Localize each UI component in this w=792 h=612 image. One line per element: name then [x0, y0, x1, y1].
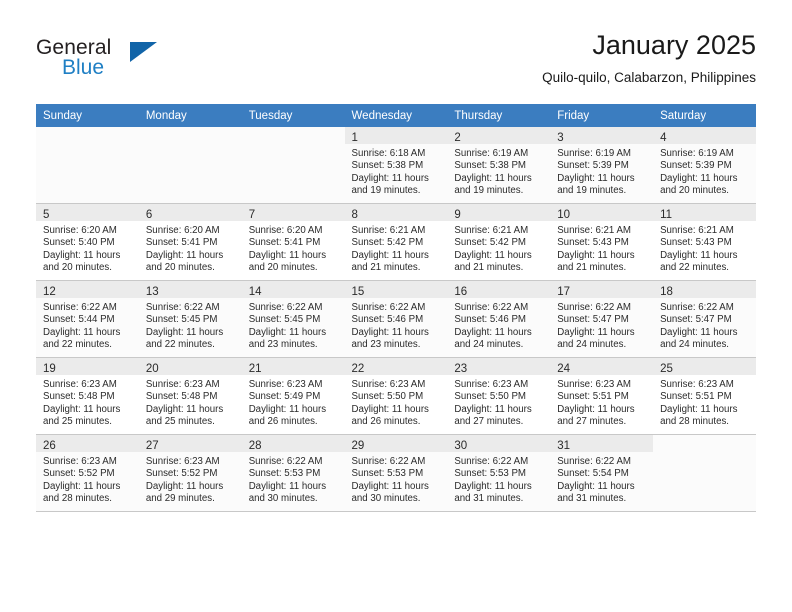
day-number-bar — [242, 127, 345, 144]
day-number-bar: 6 — [139, 204, 242, 221]
day-cell-inner: 4Sunrise: 6:19 AMSunset: 5:39 PMDaylight… — [653, 127, 756, 203]
day-detail-lines: Sunrise: 6:22 AMSunset: 5:47 PMDaylight:… — [550, 298, 653, 352]
day-detail-lines: Sunrise: 6:21 AMSunset: 5:43 PMDaylight:… — [550, 221, 653, 275]
logo-triangle-icon — [130, 42, 157, 62]
day-number: 6 — [146, 209, 152, 221]
calendar-header-row: Sunday Monday Tuesday Wednesday Thursday… — [36, 104, 756, 127]
day-number: 4 — [660, 132, 666, 144]
daylight-text: Daylight: 11 hours — [660, 250, 750, 262]
day-number-bar: 2 — [447, 127, 550, 144]
calendar-day-cell[interactable]: 23Sunrise: 6:23 AMSunset: 5:50 PMDayligh… — [447, 358, 550, 435]
calendar-day-cell[interactable]: 16Sunrise: 6:22 AMSunset: 5:46 PMDayligh… — [447, 281, 550, 358]
day-number: 19 — [43, 363, 56, 375]
calendar-empty-cell — [242, 127, 345, 204]
day-number-bar: 27 — [139, 435, 242, 452]
day-cell-inner: 2Sunrise: 6:19 AMSunset: 5:38 PMDaylight… — [447, 127, 550, 203]
calendar-week-row: 26Sunrise: 6:23 AMSunset: 5:52 PMDayligh… — [36, 435, 756, 512]
calendar-day-cell[interactable]: 7Sunrise: 6:20 AMSunset: 5:41 PMDaylight… — [242, 204, 345, 281]
calendar-day-cell[interactable]: 12Sunrise: 6:22 AMSunset: 5:44 PMDayligh… — [36, 281, 139, 358]
day-detail-lines: Sunrise: 6:22 AMSunset: 5:53 PMDaylight:… — [345, 452, 448, 506]
day-number: 10 — [557, 209, 570, 221]
day-cell-inner: 14Sunrise: 6:22 AMSunset: 5:45 PMDayligh… — [242, 281, 345, 357]
day-number: 20 — [146, 363, 159, 375]
calendar-body: 1Sunrise: 6:18 AMSunset: 5:38 PMDaylight… — [36, 127, 756, 512]
daylight-text: and 20 minutes. — [660, 185, 750, 197]
daylight-text: Daylight: 11 hours — [146, 250, 236, 262]
general-blue-logo: General Blue — [36, 36, 166, 86]
day-number: 21 — [249, 363, 262, 375]
day-cell-inner: 13Sunrise: 6:22 AMSunset: 5:45 PMDayligh… — [139, 281, 242, 357]
day-number-bar: 24 — [550, 358, 653, 375]
day-cell-inner: 8Sunrise: 6:21 AMSunset: 5:42 PMDaylight… — [345, 204, 448, 280]
day-detail-lines: Sunrise: 6:19 AMSunset: 5:38 PMDaylight:… — [447, 144, 550, 198]
daylight-text: Daylight: 11 hours — [249, 327, 339, 339]
daylight-text: and 19 minutes. — [352, 185, 442, 197]
sunrise-text: Sunrise: 6:23 AM — [146, 379, 236, 391]
day-cell-inner: 1Sunrise: 6:18 AMSunset: 5:38 PMDaylight… — [345, 127, 448, 203]
sunset-text: Sunset: 5:49 PM — [249, 391, 339, 403]
sunset-text: Sunset: 5:41 PM — [249, 237, 339, 249]
daylight-text: Daylight: 11 hours — [660, 404, 750, 416]
calendar-day-cell[interactable]: 8Sunrise: 6:21 AMSunset: 5:42 PMDaylight… — [345, 204, 448, 281]
day-number: 18 — [660, 286, 673, 298]
daylight-text: Daylight: 11 hours — [249, 481, 339, 493]
sunrise-text: Sunrise: 6:23 AM — [146, 456, 236, 468]
day-cell-inner — [139, 127, 242, 203]
day-number-bar: 26 — [36, 435, 139, 452]
weekday-header-saturday: Saturday — [653, 104, 756, 127]
day-detail-lines: Sunrise: 6:21 AMSunset: 5:43 PMDaylight:… — [653, 221, 756, 275]
daylight-text: Daylight: 11 hours — [352, 250, 442, 262]
sunrise-text: Sunrise: 6:22 AM — [454, 302, 544, 314]
daylight-text: and 25 minutes. — [43, 416, 133, 428]
sunset-text: Sunset: 5:50 PM — [454, 391, 544, 403]
day-detail-lines: Sunrise: 6:19 AMSunset: 5:39 PMDaylight:… — [653, 144, 756, 198]
daylight-text: Daylight: 11 hours — [146, 327, 236, 339]
daylight-text: and 27 minutes. — [454, 416, 544, 428]
day-cell-inner: 7Sunrise: 6:20 AMSunset: 5:41 PMDaylight… — [242, 204, 345, 280]
sunset-text: Sunset: 5:53 PM — [352, 468, 442, 480]
day-number-bar: 16 — [447, 281, 550, 298]
sunset-text: Sunset: 5:45 PM — [249, 314, 339, 326]
sunset-text: Sunset: 5:47 PM — [557, 314, 647, 326]
sunrise-text: Sunrise: 6:19 AM — [557, 148, 647, 160]
day-number-bar: 15 — [345, 281, 448, 298]
calendar-week-row: 1Sunrise: 6:18 AMSunset: 5:38 PMDaylight… — [36, 127, 756, 204]
day-number: 9 — [454, 209, 460, 221]
daylight-text: and 22 minutes. — [43, 339, 133, 351]
sunset-text: Sunset: 5:53 PM — [454, 468, 544, 480]
day-number-bar: 25 — [653, 358, 756, 375]
day-number: 22 — [352, 363, 365, 375]
day-cell-inner: 10Sunrise: 6:21 AMSunset: 5:43 PMDayligh… — [550, 204, 653, 280]
sunrise-text: Sunrise: 6:22 AM — [660, 302, 750, 314]
day-cell-inner: 5Sunrise: 6:20 AMSunset: 5:40 PMDaylight… — [36, 204, 139, 280]
day-detail-lines: Sunrise: 6:21 AMSunset: 5:42 PMDaylight:… — [447, 221, 550, 275]
sunrise-text: Sunrise: 6:19 AM — [454, 148, 544, 160]
day-cell-inner: 12Sunrise: 6:22 AMSunset: 5:44 PMDayligh… — [36, 281, 139, 357]
calendar-day-cell[interactable]: 10Sunrise: 6:21 AMSunset: 5:43 PMDayligh… — [550, 204, 653, 281]
day-detail-lines: Sunrise: 6:19 AMSunset: 5:39 PMDaylight:… — [550, 144, 653, 198]
sunset-text: Sunset: 5:38 PM — [454, 160, 544, 172]
daylight-text: and 26 minutes. — [352, 416, 442, 428]
day-detail-lines: Sunrise: 6:23 AMSunset: 5:50 PMDaylight:… — [447, 375, 550, 429]
sunrise-text: Sunrise: 6:22 AM — [557, 456, 647, 468]
day-number-bar: 8 — [345, 204, 448, 221]
calendar-day-cell[interactable]: 30Sunrise: 6:22 AMSunset: 5:53 PMDayligh… — [447, 435, 550, 512]
daylight-text: and 23 minutes. — [249, 339, 339, 351]
day-number: 3 — [557, 132, 563, 144]
daylight-text: Daylight: 11 hours — [249, 250, 339, 262]
daylight-text: and 22 minutes. — [660, 262, 750, 274]
calendar-day-cell[interactable]: 14Sunrise: 6:22 AMSunset: 5:45 PMDayligh… — [242, 281, 345, 358]
sunrise-text: Sunrise: 6:23 AM — [43, 456, 133, 468]
daylight-text: and 23 minutes. — [352, 339, 442, 351]
day-number-bar: 28 — [242, 435, 345, 452]
sunrise-text: Sunrise: 6:23 AM — [660, 379, 750, 391]
sunset-text: Sunset: 5:52 PM — [43, 468, 133, 480]
day-detail-lines: Sunrise: 6:20 AMSunset: 5:41 PMDaylight:… — [242, 221, 345, 275]
sunrise-text: Sunrise: 6:21 AM — [454, 225, 544, 237]
sunset-text: Sunset: 5:41 PM — [146, 237, 236, 249]
day-cell-inner: 23Sunrise: 6:23 AMSunset: 5:50 PMDayligh… — [447, 358, 550, 434]
day-cell-inner: 27Sunrise: 6:23 AMSunset: 5:52 PMDayligh… — [139, 435, 242, 511]
weekday-header-sunday: Sunday — [36, 104, 139, 127]
day-number-bar: 12 — [36, 281, 139, 298]
calendar-day-cell[interactable]: 26Sunrise: 6:23 AMSunset: 5:52 PMDayligh… — [36, 435, 139, 512]
weekday-header-tuesday: Tuesday — [242, 104, 345, 127]
day-number-bar: 4 — [653, 127, 756, 144]
day-cell-inner: 24Sunrise: 6:23 AMSunset: 5:51 PMDayligh… — [550, 358, 653, 434]
day-number: 7 — [249, 209, 255, 221]
sunrise-text: Sunrise: 6:18 AM — [352, 148, 442, 160]
sunset-text: Sunset: 5:42 PM — [352, 237, 442, 249]
day-number-bar: 19 — [36, 358, 139, 375]
day-cell-inner: 22Sunrise: 6:23 AMSunset: 5:50 PMDayligh… — [345, 358, 448, 434]
day-cell-inner: 29Sunrise: 6:22 AMSunset: 5:53 PMDayligh… — [345, 435, 448, 511]
calendar-day-cell[interactable]: 1Sunrise: 6:18 AMSunset: 5:38 PMDaylight… — [345, 127, 448, 204]
day-number: 27 — [146, 440, 159, 452]
sunset-text: Sunset: 5:53 PM — [249, 468, 339, 480]
sunset-text: Sunset: 5:46 PM — [454, 314, 544, 326]
sunrise-text: Sunrise: 6:23 AM — [352, 379, 442, 391]
daylight-text: and 28 minutes. — [660, 416, 750, 428]
daylight-text: Daylight: 11 hours — [43, 481, 133, 493]
sunrise-text: Sunrise: 6:22 AM — [43, 302, 133, 314]
day-detail-lines: Sunrise: 6:23 AMSunset: 5:49 PMDaylight:… — [242, 375, 345, 429]
day-number-bar: 9 — [447, 204, 550, 221]
sunrise-text: Sunrise: 6:20 AM — [146, 225, 236, 237]
daylight-text: and 30 minutes. — [352, 493, 442, 505]
daylight-text: and 25 minutes. — [146, 416, 236, 428]
day-detail-lines: Sunrise: 6:22 AMSunset: 5:45 PMDaylight:… — [242, 298, 345, 352]
day-number-bar: 11 — [653, 204, 756, 221]
sunrise-text: Sunrise: 6:22 AM — [352, 302, 442, 314]
day-detail-lines: Sunrise: 6:20 AMSunset: 5:41 PMDaylight:… — [139, 221, 242, 275]
sunrise-text: Sunrise: 6:23 AM — [249, 379, 339, 391]
calendar-day-cell[interactable]: 4Sunrise: 6:19 AMSunset: 5:39 PMDaylight… — [653, 127, 756, 204]
day-number-bar: 10 — [550, 204, 653, 221]
sunset-text: Sunset: 5:52 PM — [146, 468, 236, 480]
day-number-bar: 18 — [653, 281, 756, 298]
day-cell-inner: 3Sunrise: 6:19 AMSunset: 5:39 PMDaylight… — [550, 127, 653, 203]
calendar-day-cell[interactable]: 15Sunrise: 6:22 AMSunset: 5:46 PMDayligh… — [345, 281, 448, 358]
calendar-week-row: 19Sunrise: 6:23 AMSunset: 5:48 PMDayligh… — [36, 358, 756, 435]
day-detail-lines — [242, 144, 345, 148]
daylight-text: and 21 minutes. — [454, 262, 544, 274]
calendar-empty-cell — [36, 127, 139, 204]
day-number: 15 — [352, 286, 365, 298]
day-number-bar: 23 — [447, 358, 550, 375]
day-cell-inner — [242, 127, 345, 203]
day-number: 5 — [43, 209, 49, 221]
day-detail-lines: Sunrise: 6:18 AMSunset: 5:38 PMDaylight:… — [345, 144, 448, 198]
sunrise-text: Sunrise: 6:22 AM — [146, 302, 236, 314]
day-cell-inner: 19Sunrise: 6:23 AMSunset: 5:48 PMDayligh… — [36, 358, 139, 434]
daylight-text: and 20 minutes. — [249, 262, 339, 274]
calendar-day-cell[interactable]: 19Sunrise: 6:23 AMSunset: 5:48 PMDayligh… — [36, 358, 139, 435]
daylight-text: and 21 minutes. — [352, 262, 442, 274]
day-number-bar: 13 — [139, 281, 242, 298]
daylight-text: and 19 minutes. — [557, 185, 647, 197]
day-number: 23 — [454, 363, 467, 375]
day-cell-inner: 20Sunrise: 6:23 AMSunset: 5:48 PMDayligh… — [139, 358, 242, 434]
day-cell-inner: 25Sunrise: 6:23 AMSunset: 5:51 PMDayligh… — [653, 358, 756, 434]
daylight-text: Daylight: 11 hours — [249, 404, 339, 416]
day-number-bar: 31 — [550, 435, 653, 452]
daylight-text: and 24 minutes. — [454, 339, 544, 351]
daylight-text: Daylight: 11 hours — [352, 404, 442, 416]
page-title: January 2025 — [542, 28, 756, 62]
sunrise-text: Sunrise: 6:22 AM — [557, 302, 647, 314]
daylight-text: and 22 minutes. — [146, 339, 236, 351]
daylight-text: Daylight: 11 hours — [146, 481, 236, 493]
day-cell-inner: 16Sunrise: 6:22 AMSunset: 5:46 PMDayligh… — [447, 281, 550, 357]
daylight-text: Daylight: 11 hours — [352, 481, 442, 493]
page-header: General Blue January 2025 Quilo-quilo, C… — [0, 0, 792, 104]
sunrise-text: Sunrise: 6:22 AM — [454, 456, 544, 468]
daylight-text: Daylight: 11 hours — [557, 404, 647, 416]
daylight-text: Daylight: 11 hours — [557, 327, 647, 339]
day-cell-inner: 15Sunrise: 6:22 AMSunset: 5:46 PMDayligh… — [345, 281, 448, 357]
day-number: 25 — [660, 363, 673, 375]
day-detail-lines: Sunrise: 6:22 AMSunset: 5:46 PMDaylight:… — [447, 298, 550, 352]
sunrise-text: Sunrise: 6:21 AM — [352, 225, 442, 237]
day-number: 13 — [146, 286, 159, 298]
sunset-text: Sunset: 5:46 PM — [352, 314, 442, 326]
sunset-text: Sunset: 5:42 PM — [454, 237, 544, 249]
calendar-day-cell[interactable]: 25Sunrise: 6:23 AMSunset: 5:51 PMDayligh… — [653, 358, 756, 435]
calendar-day-cell[interactable]: 20Sunrise: 6:23 AMSunset: 5:48 PMDayligh… — [139, 358, 242, 435]
calendar-day-cell[interactable]: 21Sunrise: 6:23 AMSunset: 5:49 PMDayligh… — [242, 358, 345, 435]
day-number: 28 — [249, 440, 262, 452]
day-number: 24 — [557, 363, 570, 375]
calendar-empty-cell — [653, 435, 756, 512]
daylight-text: and 20 minutes. — [146, 262, 236, 274]
daylight-text: Daylight: 11 hours — [557, 250, 647, 262]
calendar-day-cell[interactable]: 11Sunrise: 6:21 AMSunset: 5:43 PMDayligh… — [653, 204, 756, 281]
daylight-text: Daylight: 11 hours — [352, 173, 442, 185]
day-number: 29 — [352, 440, 365, 452]
calendar-day-cell[interactable]: 9Sunrise: 6:21 AMSunset: 5:42 PMDaylight… — [447, 204, 550, 281]
day-cell-inner: 17Sunrise: 6:22 AMSunset: 5:47 PMDayligh… — [550, 281, 653, 357]
sunrise-text: Sunrise: 6:21 AM — [660, 225, 750, 237]
sunset-text: Sunset: 5:48 PM — [43, 391, 133, 403]
sunrise-text: Sunrise: 6:20 AM — [43, 225, 133, 237]
sunset-text: Sunset: 5:47 PM — [660, 314, 750, 326]
weekday-header-monday: Monday — [139, 104, 242, 127]
day-cell-inner: 31Sunrise: 6:22 AMSunset: 5:54 PMDayligh… — [550, 435, 653, 511]
daylight-text: and 31 minutes. — [454, 493, 544, 505]
calendar-day-cell[interactable]: 5Sunrise: 6:20 AMSunset: 5:40 PMDaylight… — [36, 204, 139, 281]
calendar-day-cell[interactable]: 18Sunrise: 6:22 AMSunset: 5:47 PMDayligh… — [653, 281, 756, 358]
daylight-text: Daylight: 11 hours — [43, 404, 133, 416]
weekday-header-wednesday: Wednesday — [345, 104, 448, 127]
daylight-text: Daylight: 11 hours — [352, 327, 442, 339]
daylight-text: Daylight: 11 hours — [454, 173, 544, 185]
day-number: 2 — [454, 132, 460, 144]
calendar-day-cell[interactable]: 24Sunrise: 6:23 AMSunset: 5:51 PMDayligh… — [550, 358, 653, 435]
day-cell-inner — [36, 127, 139, 203]
day-cell-inner: 26Sunrise: 6:23 AMSunset: 5:52 PMDayligh… — [36, 435, 139, 511]
calendar-day-cell[interactable]: 2Sunrise: 6:19 AMSunset: 5:38 PMDaylight… — [447, 127, 550, 204]
weekday-header-thursday: Thursday — [447, 104, 550, 127]
day-number-bar: 1 — [345, 127, 448, 144]
daylight-text: and 29 minutes. — [146, 493, 236, 505]
day-detail-lines: Sunrise: 6:20 AMSunset: 5:40 PMDaylight:… — [36, 221, 139, 275]
day-detail-lines — [36, 144, 139, 148]
day-detail-lines: Sunrise: 6:23 AMSunset: 5:48 PMDaylight:… — [36, 375, 139, 429]
day-number-bar: 17 — [550, 281, 653, 298]
daylight-text: and 20 minutes. — [43, 262, 133, 274]
day-number-bar: 21 — [242, 358, 345, 375]
sunset-text: Sunset: 5:51 PM — [557, 391, 647, 403]
day-number-bar: 3 — [550, 127, 653, 144]
day-number: 17 — [557, 286, 570, 298]
day-detail-lines — [139, 144, 242, 148]
daylight-text: Daylight: 11 hours — [660, 173, 750, 185]
sunset-text: Sunset: 5:51 PM — [660, 391, 750, 403]
sunrise-text: Sunrise: 6:20 AM — [249, 225, 339, 237]
sunset-text: Sunset: 5:39 PM — [557, 160, 647, 172]
sunset-text: Sunset: 5:48 PM — [146, 391, 236, 403]
calendar-table: Sunday Monday Tuesday Wednesday Thursday… — [36, 104, 756, 512]
sunset-text: Sunset: 5:38 PM — [352, 160, 442, 172]
weekday-header-friday: Friday — [550, 104, 653, 127]
daylight-text: and 24 minutes. — [660, 339, 750, 351]
daylight-text: and 28 minutes. — [43, 493, 133, 505]
calendar-empty-cell — [139, 127, 242, 204]
day-number: 16 — [454, 286, 467, 298]
sunrise-text: Sunrise: 6:22 AM — [352, 456, 442, 468]
day-cell-inner: 6Sunrise: 6:20 AMSunset: 5:41 PMDaylight… — [139, 204, 242, 280]
day-cell-inner: 18Sunrise: 6:22 AMSunset: 5:47 PMDayligh… — [653, 281, 756, 357]
daylight-text: Daylight: 11 hours — [454, 250, 544, 262]
calendar-week-row: 5Sunrise: 6:20 AMSunset: 5:40 PMDaylight… — [36, 204, 756, 281]
daylight-text: Daylight: 11 hours — [454, 481, 544, 493]
daylight-text: Daylight: 11 hours — [557, 173, 647, 185]
day-detail-lines: Sunrise: 6:23 AMSunset: 5:52 PMDaylight:… — [139, 452, 242, 506]
day-detail-lines: Sunrise: 6:23 AMSunset: 5:50 PMDaylight:… — [345, 375, 448, 429]
day-number-bar: 5 — [36, 204, 139, 221]
calendar-day-cell[interactable]: 17Sunrise: 6:22 AMSunset: 5:47 PMDayligh… — [550, 281, 653, 358]
sunrise-text: Sunrise: 6:19 AM — [660, 148, 750, 160]
day-detail-lines: Sunrise: 6:21 AMSunset: 5:42 PMDaylight:… — [345, 221, 448, 275]
day-cell-inner: 30Sunrise: 6:22 AMSunset: 5:53 PMDayligh… — [447, 435, 550, 511]
sunrise-text: Sunrise: 6:22 AM — [249, 302, 339, 314]
location-subtitle: Quilo-quilo, Calabarzon, Philippines — [542, 68, 756, 88]
day-detail-lines: Sunrise: 6:22 AMSunset: 5:46 PMDaylight:… — [345, 298, 448, 352]
day-detail-lines — [653, 452, 756, 456]
sunrise-text: Sunrise: 6:22 AM — [249, 456, 339, 468]
day-detail-lines: Sunrise: 6:23 AMSunset: 5:48 PMDaylight:… — [139, 375, 242, 429]
daylight-text: Daylight: 11 hours — [660, 327, 750, 339]
day-number-bar: 7 — [242, 204, 345, 221]
sunset-text: Sunset: 5:50 PM — [352, 391, 442, 403]
day-cell-inner: 9Sunrise: 6:21 AMSunset: 5:42 PMDaylight… — [447, 204, 550, 280]
sunset-text: Sunset: 5:45 PM — [146, 314, 236, 326]
sunrise-text: Sunrise: 6:23 AM — [43, 379, 133, 391]
day-detail-lines: Sunrise: 6:22 AMSunset: 5:53 PMDaylight:… — [242, 452, 345, 506]
day-number: 14 — [249, 286, 262, 298]
day-cell-inner — [653, 435, 756, 511]
day-number: 8 — [352, 209, 358, 221]
calendar-page: General Blue January 2025 Quilo-quilo, C… — [0, 0, 792, 612]
daylight-text: Daylight: 11 hours — [557, 481, 647, 493]
daylight-text: Daylight: 11 hours — [43, 327, 133, 339]
sunset-text: Sunset: 5:43 PM — [660, 237, 750, 249]
day-detail-lines: Sunrise: 6:22 AMSunset: 5:47 PMDaylight:… — [653, 298, 756, 352]
day-detail-lines: Sunrise: 6:22 AMSunset: 5:44 PMDaylight:… — [36, 298, 139, 352]
day-detail-lines: Sunrise: 6:23 AMSunset: 5:51 PMDaylight:… — [550, 375, 653, 429]
day-number-bar: 22 — [345, 358, 448, 375]
calendar-day-cell[interactable]: 22Sunrise: 6:23 AMSunset: 5:50 PMDayligh… — [345, 358, 448, 435]
calendar-day-cell[interactable]: 27Sunrise: 6:23 AMSunset: 5:52 PMDayligh… — [139, 435, 242, 512]
daylight-text: and 26 minutes. — [249, 416, 339, 428]
day-number-bar: 20 — [139, 358, 242, 375]
calendar-day-cell[interactable]: 31Sunrise: 6:22 AMSunset: 5:54 PMDayligh… — [550, 435, 653, 512]
logo-text-blue: Blue — [62, 56, 104, 80]
daylight-text: and 30 minutes. — [249, 493, 339, 505]
calendar-day-cell[interactable]: 6Sunrise: 6:20 AMSunset: 5:41 PMDaylight… — [139, 204, 242, 281]
sunrise-text: Sunrise: 6:21 AM — [557, 225, 647, 237]
daylight-text: Daylight: 11 hours — [146, 404, 236, 416]
day-number-bar: 29 — [345, 435, 448, 452]
calendar-day-cell[interactable]: 13Sunrise: 6:22 AMSunset: 5:45 PMDayligh… — [139, 281, 242, 358]
day-cell-inner: 28Sunrise: 6:22 AMSunset: 5:53 PMDayligh… — [242, 435, 345, 511]
daylight-text: and 24 minutes. — [557, 339, 647, 351]
day-number: 26 — [43, 440, 56, 452]
calendar-day-cell[interactable]: 28Sunrise: 6:22 AMSunset: 5:53 PMDayligh… — [242, 435, 345, 512]
title-block: January 2025 Quilo-quilo, Calabarzon, Ph… — [542, 28, 756, 88]
day-number-bar — [36, 127, 139, 144]
calendar-day-cell[interactable]: 3Sunrise: 6:19 AMSunset: 5:39 PMDaylight… — [550, 127, 653, 204]
day-number: 30 — [454, 440, 467, 452]
sunset-text: Sunset: 5:44 PM — [43, 314, 133, 326]
daylight-text: Daylight: 11 hours — [454, 327, 544, 339]
day-cell-inner: 11Sunrise: 6:21 AMSunset: 5:43 PMDayligh… — [653, 204, 756, 280]
daylight-text: and 19 minutes. — [454, 185, 544, 197]
daylight-text: and 27 minutes. — [557, 416, 647, 428]
calendar-week-row: 12Sunrise: 6:22 AMSunset: 5:44 PMDayligh… — [36, 281, 756, 358]
day-number: 12 — [43, 286, 56, 298]
sunrise-text: Sunrise: 6:23 AM — [557, 379, 647, 391]
day-cell-inner: 21Sunrise: 6:23 AMSunset: 5:49 PMDayligh… — [242, 358, 345, 434]
daylight-text: Daylight: 11 hours — [43, 250, 133, 262]
day-detail-lines: Sunrise: 6:22 AMSunset: 5:54 PMDaylight:… — [550, 452, 653, 506]
sunset-text: Sunset: 5:43 PM — [557, 237, 647, 249]
calendar-day-cell[interactable]: 29Sunrise: 6:22 AMSunset: 5:53 PMDayligh… — [345, 435, 448, 512]
